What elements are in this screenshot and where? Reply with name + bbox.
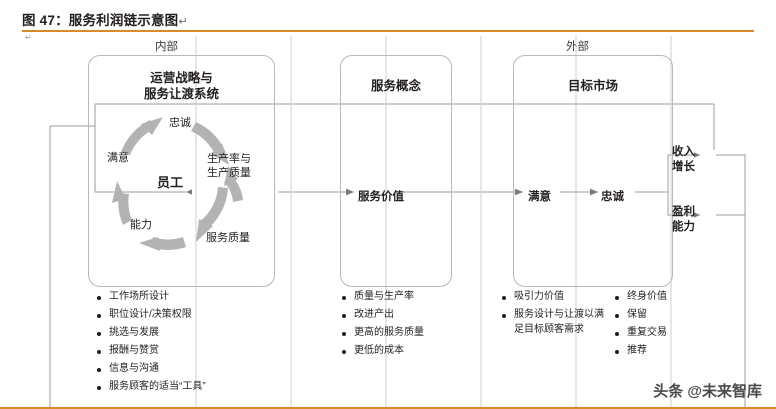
revenue-join [716,155,745,200]
title-divider [22,30,754,32]
caption-external: 外部 [566,38,589,54]
panel-left-title-line2: 服务让渡系统 [144,87,219,101]
cycle-label-employee: 员工 [148,176,192,190]
list-item: 终身价值 [613,290,667,305]
flow-label-service-value: 服务价值 [358,188,404,204]
list-item-continuation: 足目标顾客需求 [500,323,604,338]
panel-target-market: 目标市场 [513,55,673,287]
cycle-label-loyalty: 忠诚 [160,116,200,130]
pilcrow-mark: ↵ [25,33,32,42]
cycle-label-productivity-line2: 生产质量 [207,167,251,179]
list-item: 更低的成本 [340,344,424,359]
list-item: 挑选与发展 [95,326,206,341]
flow-label-customer-loyalty: 忠诚 [601,188,624,204]
caption-internal: 内部 [155,38,178,54]
outcome-revenue-line2: 增长 [672,161,695,173]
bullet-list-left: 工作场所设计 职位设计/决策权限 挑选与发展 报酬与赞赏 信息与沟通 服务顾客的… [95,290,206,398]
flow-label-customer-satisfaction: 满意 [528,188,551,204]
panel-left-title-line1: 运营战略与 [150,71,213,85]
cycle-label-productivity: 生产率与 生产质量 [198,152,260,180]
list-item: 服务设计与让渡以满 [500,308,604,323]
cycle-label-service-quality: 服务质量 [196,231,260,245]
list-item: 保留 [613,308,667,323]
figure-title: 图 47：服务利润链示意图↵ [22,9,188,29]
list-item: 更高的服务质量 [340,326,424,341]
list-item: 改进产出 [340,308,424,323]
list-item: 推荐 [613,344,667,359]
bullet-list-right-col1: 吸引力价值 服务设计与让渡以满 足目标顾客需求 [500,290,604,341]
panel-left-title: 运营战略与 服务让渡系统 [89,70,274,102]
list-item: 工作场所设计 [95,290,206,305]
list-item: 重复交易 [613,326,667,341]
outcome-profit-line1: 盈利 [672,206,695,218]
watermark: 头条 @未来智库 [653,380,762,401]
list-item: 质量与生产率 [340,290,424,305]
bullet-list-middle: 质量与生产率 改进产出 更高的服务质量 更低的成本 [340,290,424,362]
cycle-label-satisfaction: 满意 [101,151,135,165]
bullet-list-right-col2: 终身价值 保留 重复交易 推荐 [613,290,667,362]
figure-title-text: 图 47：服务利润链示意图 [22,13,178,28]
cycle-label-capability: 能力 [124,218,158,232]
list-item: 报酬与赞赏 [95,344,206,359]
panel-right-title: 目标市场 [514,78,672,94]
list-item: 服务顾客的适当“工具” [95,380,206,395]
outcome-revenue-growth: 收入 增长 [672,145,695,175]
panel-mid-title: 服务概念 [341,78,451,94]
figure-canvas: 图 47：服务利润链示意图↵ ↵ 内部 外部 [0,0,776,409]
list-item: 职位设计/决策权限 [95,308,206,323]
panel-service-concept: 服务概念 [340,55,452,287]
outcome-revenue-line1: 收入 [672,146,695,158]
list-item: 信息与沟通 [95,362,206,377]
outcome-profit-line2: 能力 [672,221,695,233]
title-return-mark: ↵ [178,16,187,28]
outcome-profitability: 盈利 能力 [672,205,695,235]
list-item: 吸引力价值 [500,290,604,305]
cycle-label-productivity-line1: 生产率与 [207,153,251,165]
